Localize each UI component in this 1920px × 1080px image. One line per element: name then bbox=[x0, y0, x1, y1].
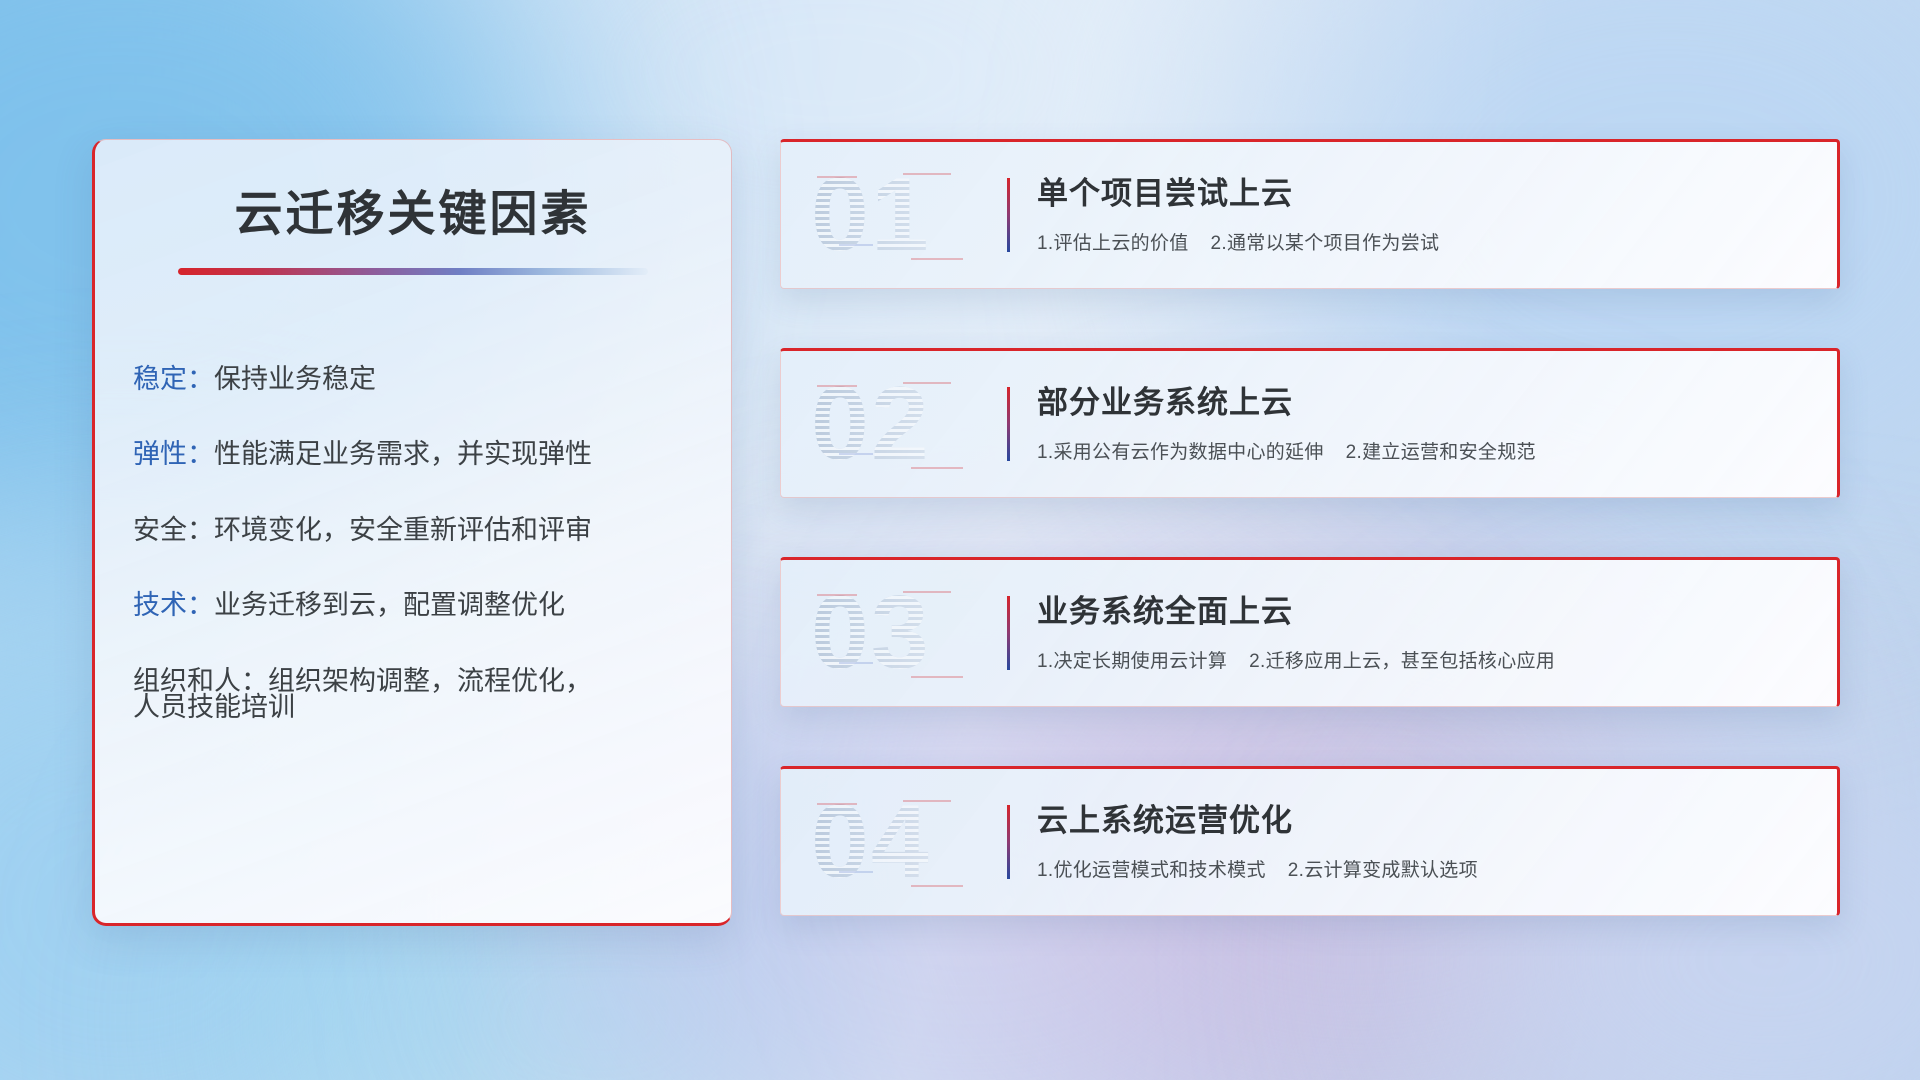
stage-number-badge: 02 bbox=[811, 349, 1007, 498]
number-streak-icon bbox=[839, 662, 873, 664]
factor-item-stability: 稳定：保持业务稳定 bbox=[133, 361, 731, 397]
number-streak-icon bbox=[817, 385, 857, 387]
factor-list: 稳定：保持业务稳定 弹性：性能满足业务需求，并实现弹性 安全：环境变化，安全重新… bbox=[95, 361, 731, 726]
card-point-2: 2.云计算变成默认选项 bbox=[1288, 860, 1478, 881]
number-streak-icon bbox=[817, 176, 857, 178]
factor-item-security: 安全：环境变化，安全重新评估和评审 bbox=[133, 512, 731, 548]
number-streak-icon bbox=[911, 676, 963, 678]
card-body: 部分业务系统上云 1.采用公有云作为数据中心的延伸2.建立运营和安全规范 bbox=[1037, 384, 1837, 463]
number-streak-icon bbox=[911, 467, 963, 469]
factor-text: 业务迁移到云，配置调整优化 bbox=[214, 590, 565, 620]
number-streak-icon bbox=[839, 453, 873, 455]
card-point-1: 1.采用公有云作为数据中心的延伸 bbox=[1037, 442, 1324, 463]
factor-item-elasticity: 弹性：性能满足业务需求，并实现弹性 bbox=[133, 436, 731, 472]
card-title: 单个项目尝试上云 bbox=[1037, 175, 1813, 212]
stage-number-badge: 01 bbox=[811, 140, 1007, 289]
factor-label: 稳定： bbox=[133, 364, 214, 394]
stage-number-text: 02 bbox=[811, 372, 931, 476]
card-point-1: 1.优化运营模式和技术模式 bbox=[1037, 860, 1266, 881]
number-streak-icon bbox=[911, 258, 963, 260]
factor-text: 性能满足业务需求，并实现弹性 bbox=[214, 439, 592, 469]
stage-card-02[interactable]: 02 部分业务系统上云 1.采用公有云作为数据中心的延伸2.建立运营和安全规范 bbox=[780, 348, 1840, 498]
stage-number-badge: 04 bbox=[811, 767, 1007, 916]
key-factors-panel: 云迁移关键因素 稳定：保持业务稳定 弹性：性能满足业务需求，并实现弹性 安全：环… bbox=[92, 139, 732, 926]
number-streak-icon bbox=[817, 594, 857, 596]
number-streak-icon bbox=[903, 173, 951, 175]
card-point-1: 1.评估上云的价值 bbox=[1037, 233, 1189, 254]
card-body: 云上系统运营优化 1.优化运营模式和技术模式2.云计算变成默认选项 bbox=[1037, 802, 1837, 881]
stage-card-01[interactable]: 01 单个项目尝试上云 1.评估上云的价值2.通常以某个项目作为尝试 bbox=[780, 139, 1840, 289]
factor-label: 弹性： bbox=[133, 439, 214, 469]
number-streak-icon bbox=[817, 803, 857, 805]
stage-card-03[interactable]: 03 业务系统全面上云 1.决定长期使用云计算2.迁移应用上云，甚至包括核心应用 bbox=[780, 557, 1840, 707]
number-streak-icon bbox=[903, 591, 951, 593]
title-underline-rule bbox=[178, 268, 648, 275]
card-accent-bar bbox=[1007, 178, 1010, 252]
card-title: 业务系统全面上云 bbox=[1037, 593, 1813, 630]
slide-root: 云迁移关键因素 稳定：保持业务稳定 弹性：性能满足业务需求，并实现弹性 安全：环… bbox=[0, 0, 1920, 1080]
factor-label: 技术： bbox=[133, 590, 214, 620]
card-subtitle: 1.优化运营模式和技术模式2.云计算变成默认选项 bbox=[1037, 855, 1813, 882]
stage-number-text: 03 bbox=[811, 581, 931, 685]
number-streak-icon bbox=[839, 871, 873, 873]
card-accent-bar bbox=[1007, 596, 1010, 670]
card-title: 部分业务系统上云 bbox=[1037, 384, 1813, 421]
card-body: 单个项目尝试上云 1.评估上云的价值2.通常以某个项目作为尝试 bbox=[1037, 175, 1837, 254]
card-title: 云上系统运营优化 bbox=[1037, 802, 1813, 839]
stage-card-list: 01 单个项目尝试上云 1.评估上云的价值2.通常以某个项目作为尝试 02 bbox=[780, 139, 1840, 916]
factor-item-technology: 技术：业务迁移到云，配置调整优化 bbox=[133, 587, 731, 623]
card-accent-bar bbox=[1007, 805, 1010, 879]
card-point-2: 2.建立运营和安全规范 bbox=[1346, 442, 1536, 463]
factor-text: 环境变化，安全重新评估和评审 bbox=[214, 515, 592, 545]
card-body: 业务系统全面上云 1.决定长期使用云计算2.迁移应用上云，甚至包括核心应用 bbox=[1037, 593, 1837, 672]
panel-title: 云迁移关键因素 bbox=[95, 189, 731, 242]
card-point-2: 2.通常以某个项目作为尝试 bbox=[1211, 233, 1440, 254]
stage-number-text: 01 bbox=[811, 163, 931, 267]
factor-text: 组织架构调整，流程优化， bbox=[268, 666, 592, 696]
number-streak-icon bbox=[839, 244, 873, 246]
card-accent-bar bbox=[1007, 387, 1010, 461]
number-streak-icon bbox=[911, 885, 963, 887]
card-subtitle: 1.采用公有云作为数据中心的延伸2.建立运营和安全规范 bbox=[1037, 437, 1813, 464]
card-point-2: 2.迁移应用上云，甚至包括核心应用 bbox=[1249, 651, 1555, 672]
factor-text: 保持业务稳定 bbox=[214, 364, 376, 394]
factor-item-organization: 组织和人：组织架构调整，流程优化， 人员技能培训 bbox=[133, 663, 731, 726]
factor-label: 安全： bbox=[133, 515, 214, 545]
stage-number-badge: 03 bbox=[811, 558, 1007, 707]
card-subtitle: 1.评估上云的价值2.通常以某个项目作为尝试 bbox=[1037, 228, 1813, 255]
stage-card-04[interactable]: 04 云上系统运营优化 1.优化运营模式和技术模式2.云计算变成默认选项 bbox=[780, 766, 1840, 916]
card-subtitle: 1.决定长期使用云计算2.迁移应用上云，甚至包括核心应用 bbox=[1037, 646, 1813, 673]
number-streak-icon bbox=[903, 382, 951, 384]
number-streak-icon bbox=[903, 800, 951, 802]
card-point-1: 1.决定长期使用云计算 bbox=[1037, 651, 1227, 672]
stage-number-text: 04 bbox=[811, 790, 931, 894]
